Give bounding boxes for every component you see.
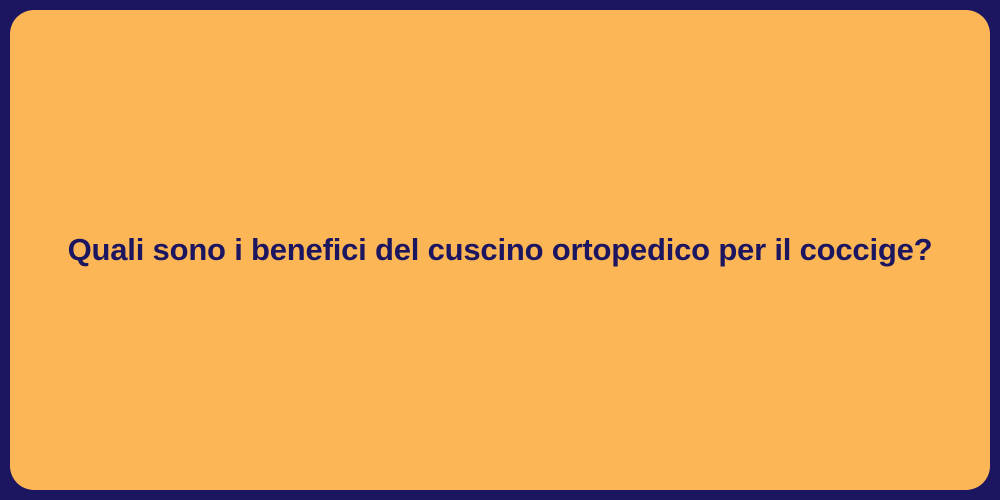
- banner-headline: Quali sono i benefici del cuscino ortope…: [68, 230, 933, 270]
- banner-root: Quali sono i benefici del cuscino ortope…: [0, 0, 1000, 500]
- banner-panel: Quali sono i benefici del cuscino ortope…: [10, 10, 990, 490]
